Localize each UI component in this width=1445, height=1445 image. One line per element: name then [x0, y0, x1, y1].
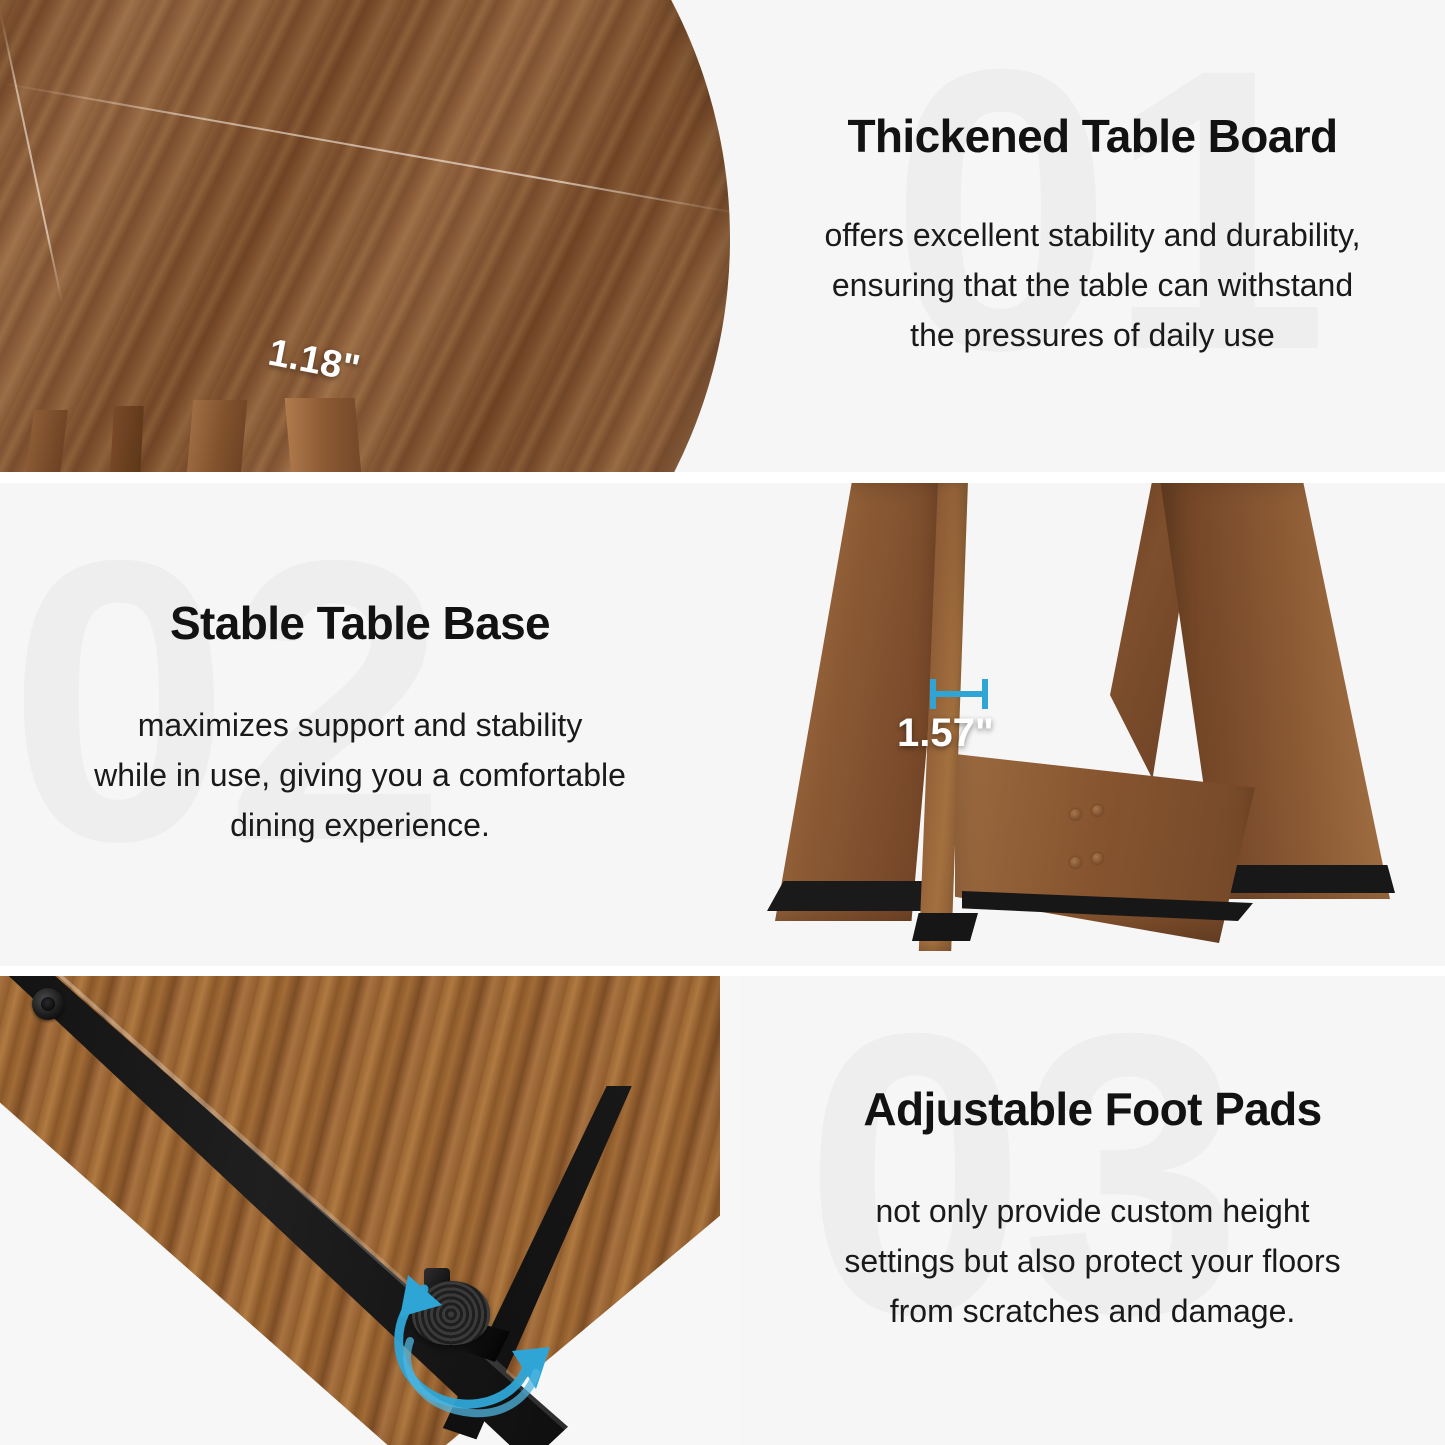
dimension-label-base-thickness: 1.57" — [897, 711, 994, 756]
feature-description-02: maximizes support and stability while in… — [94, 701, 626, 851]
feature-text-02: 02 Stable Table Base maximizes support a… — [0, 483, 720, 966]
panel-divider — [0, 966, 1445, 976]
feature-description-line: from scratches and damage. — [890, 1293, 1296, 1329]
feature-description-line: offers excellent stability and durabilit… — [825, 217, 1361, 253]
feature-text-01: 01 Thickened Table Board offers excellen… — [740, 0, 1445, 472]
base-screw — [1070, 857, 1081, 868]
ibeam-right-cap — [982, 679, 988, 709]
feature-description-line: while in use, giving you a comfortable — [94, 757, 626, 793]
corner-screw — [32, 988, 64, 1020]
table-edge-highlight — [0, 0, 730, 472]
feature-text-03: 03 Adjustable Foot Pads not only provide… — [740, 976, 1445, 1445]
tabletop-photo: 1.18" — [0, 0, 790, 472]
feature-description-03: not only provide custom height settings … — [844, 1187, 1340, 1337]
feature-description-line: maximizes support and stability — [138, 707, 583, 743]
feature-title-01: Thickened Table Board — [847, 111, 1337, 163]
base-screw — [1070, 809, 1081, 820]
ibeam-bar — [930, 691, 988, 697]
feature-description-line: ensuring that the table can withstand — [832, 267, 1353, 303]
feature-description-01: offers excellent stability and durabilit… — [825, 211, 1361, 361]
foot-pad-photo — [0, 976, 740, 1445]
base-screw — [1092, 853, 1103, 864]
feature-description-line: the pressures of daily use — [910, 317, 1275, 353]
product-feature-infographic: 1.18" 01 Thickened Table Board offers ex… — [0, 0, 1445, 1445]
panel-divider — [0, 472, 1445, 483]
feature-title-03: Adjustable Foot Pads — [863, 1084, 1321, 1136]
feature-panel-01: 1.18" 01 Thickened Table Board offers ex… — [0, 0, 1445, 472]
adjustable-foot-pad — [412, 1281, 490, 1345]
table-base-photo: 1.57" — [740, 483, 1445, 966]
base-screw — [1092, 805, 1103, 816]
feature-description-line: dining experience. — [230, 807, 490, 843]
feature-panel-02: 02 Stable Table Base maximizes support a… — [0, 483, 1445, 966]
feature-title-02: Stable Table Base — [170, 598, 550, 650]
feature-description-line: settings but also protect your floors — [844, 1243, 1340, 1279]
feature-panel-03: 03 Adjustable Foot Pads not only provide… — [0, 976, 1445, 1445]
feature-description-line: not only provide custom height — [875, 1193, 1309, 1229]
base-center-foot-cap — [912, 913, 978, 941]
